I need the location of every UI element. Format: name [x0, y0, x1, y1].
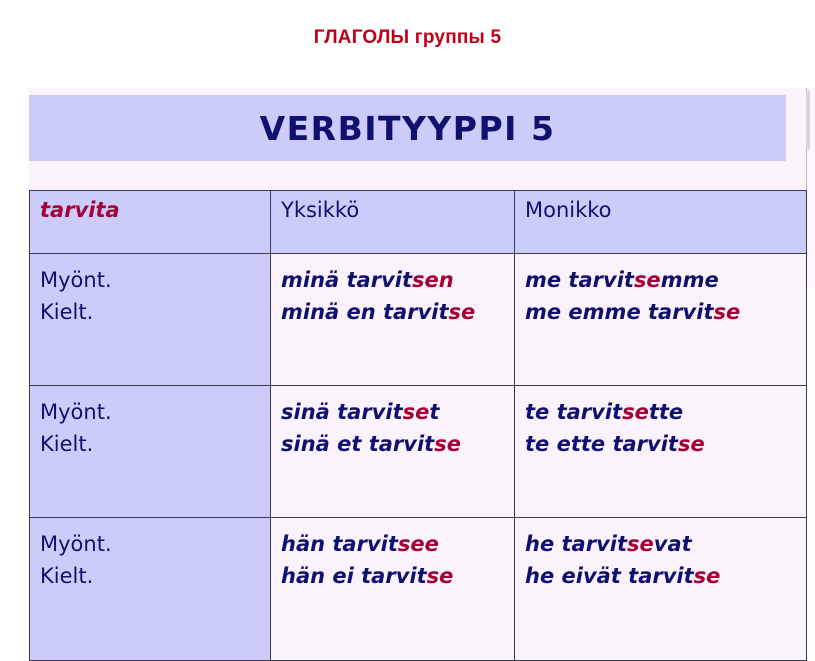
form-singular-affirmative: hän tarvitsee — [281, 529, 514, 561]
row-1-labels-cell: Myönt. Kielt. — [30, 254, 271, 386]
verb-stem: me tarvit — [525, 268, 634, 292]
verb-suffix-highlight: se — [694, 564, 721, 588]
header-verb-label: tarvita — [40, 199, 270, 222]
verb-stem: he eivät tarvit — [525, 564, 694, 588]
verb-stem: te tarvit — [525, 400, 622, 424]
verb-suffix-highlight: se — [678, 432, 705, 456]
verb-stem: me emme tarvit — [525, 300, 714, 324]
verb-suffix-highlight: se — [634, 268, 661, 292]
header-singular-label: Yksikkö — [281, 199, 514, 222]
row-2-singular-cell: sinä tarvitset sinä et tarvitse — [271, 386, 515, 518]
label-affirmative: Myönt. — [40, 529, 270, 561]
table-row: Myönt. Kielt. hän tarvitsee hän ei tarvi… — [30, 518, 807, 661]
verb-suffix-highlight: se — [622, 400, 649, 424]
verb-suffix-highlight: se — [427, 564, 454, 588]
verb-stem: sinä tarvit — [281, 400, 403, 424]
verb-ending: tte — [649, 400, 683, 424]
header-plural-label: Monikko — [525, 199, 806, 222]
form-plural-negative: te ette tarvitse — [525, 429, 806, 461]
form-plural-affirmative: he tarvitsevat — [525, 529, 806, 561]
conjugation-table: tarvita Yksikkö Monikko Myönt. Kielt. mi… — [29, 190, 807, 661]
label-affirmative: Myönt. — [40, 265, 270, 297]
label-negative: Kielt. — [40, 297, 270, 329]
header-cell-singular: Yksikkö — [271, 191, 515, 254]
verb-suffix-highlight: see — [398, 532, 439, 556]
verb-suffix-highlight: se — [434, 432, 461, 456]
form-singular-negative: sinä et tarvitse — [281, 429, 514, 461]
verb-stem: he tarvit — [525, 532, 627, 556]
verb-suffix-highlight: se — [403, 400, 430, 424]
header-cell-verb: tarvita — [30, 191, 271, 254]
row-3-labels-cell: Myönt. Kielt. — [30, 518, 271, 661]
row-3-singular-cell: hän tarvitsee hän ei tarvitse — [271, 518, 515, 661]
form-plural-negative: he eivät tarvitse — [525, 561, 806, 593]
row-2-plural-cell: te tarvitsette te ette tarvitse — [515, 386, 807, 518]
page-title: ГЛАГОЛЫ группы 5 — [0, 27, 815, 49]
verb-ending: vat — [654, 532, 692, 556]
table-header-row: tarvita Yksikkö Monikko — [30, 191, 807, 254]
form-plural-negative: me emme tarvitse — [525, 297, 806, 329]
verb-stem: hän ei tarvit — [281, 564, 427, 588]
verb-stem: hän tarvit — [281, 532, 398, 556]
form-singular-negative: hän ei tarvitse — [281, 561, 514, 593]
form-singular-negative: minä en tarvitse — [281, 297, 514, 329]
verb-stem: minä en tarvit — [281, 300, 449, 324]
verb-suffix-highlight: se — [714, 300, 741, 324]
verb-ending: t — [429, 400, 439, 424]
form-singular-affirmative: sinä tarvitset — [281, 397, 514, 429]
verb-type-heading-band: VERBITYYPPI 5 — [29, 95, 786, 161]
row-2-labels-cell: Myönt. Kielt. — [30, 386, 271, 518]
row-3-plural-cell: he tarvitsevat he eivät tarvitse — [515, 518, 807, 661]
verb-type-heading-text: VERBITYYPPI 5 — [260, 109, 556, 148]
form-plural-affirmative: te tarvitsette — [525, 397, 806, 429]
form-singular-affirmative: minä tarvitsen — [281, 265, 514, 297]
row-1-plural-cell: me tarvitsemme me emme tarvitse — [515, 254, 807, 386]
verb-stem: minä tarvit — [281, 268, 412, 292]
label-negative: Kielt. — [40, 561, 270, 593]
scrollbar-thumb[interactable] — [806, 90, 810, 150]
table-row: Myönt. Kielt. sinä tarvitset sinä et tar… — [30, 386, 807, 518]
verb-suffix-highlight: se — [449, 300, 476, 324]
verb-suffix-highlight: sen — [412, 268, 454, 292]
row-1-singular-cell: minä tarvitsen minä en tarvitse — [271, 254, 515, 386]
verb-ending: mme — [661, 268, 719, 292]
label-negative: Kielt. — [40, 429, 270, 461]
table-row: Myönt. Kielt. minä tarvitsen minä en tar… — [30, 254, 807, 386]
verb-stem: sinä et tarvit — [281, 432, 434, 456]
verb-suffix-highlight: se — [627, 532, 654, 556]
label-affirmative: Myönt. — [40, 397, 270, 429]
form-plural-affirmative: me tarvitsemme — [525, 265, 806, 297]
verb-stem: te ette tarvit — [525, 432, 678, 456]
header-cell-plural: Monikko — [515, 191, 807, 254]
